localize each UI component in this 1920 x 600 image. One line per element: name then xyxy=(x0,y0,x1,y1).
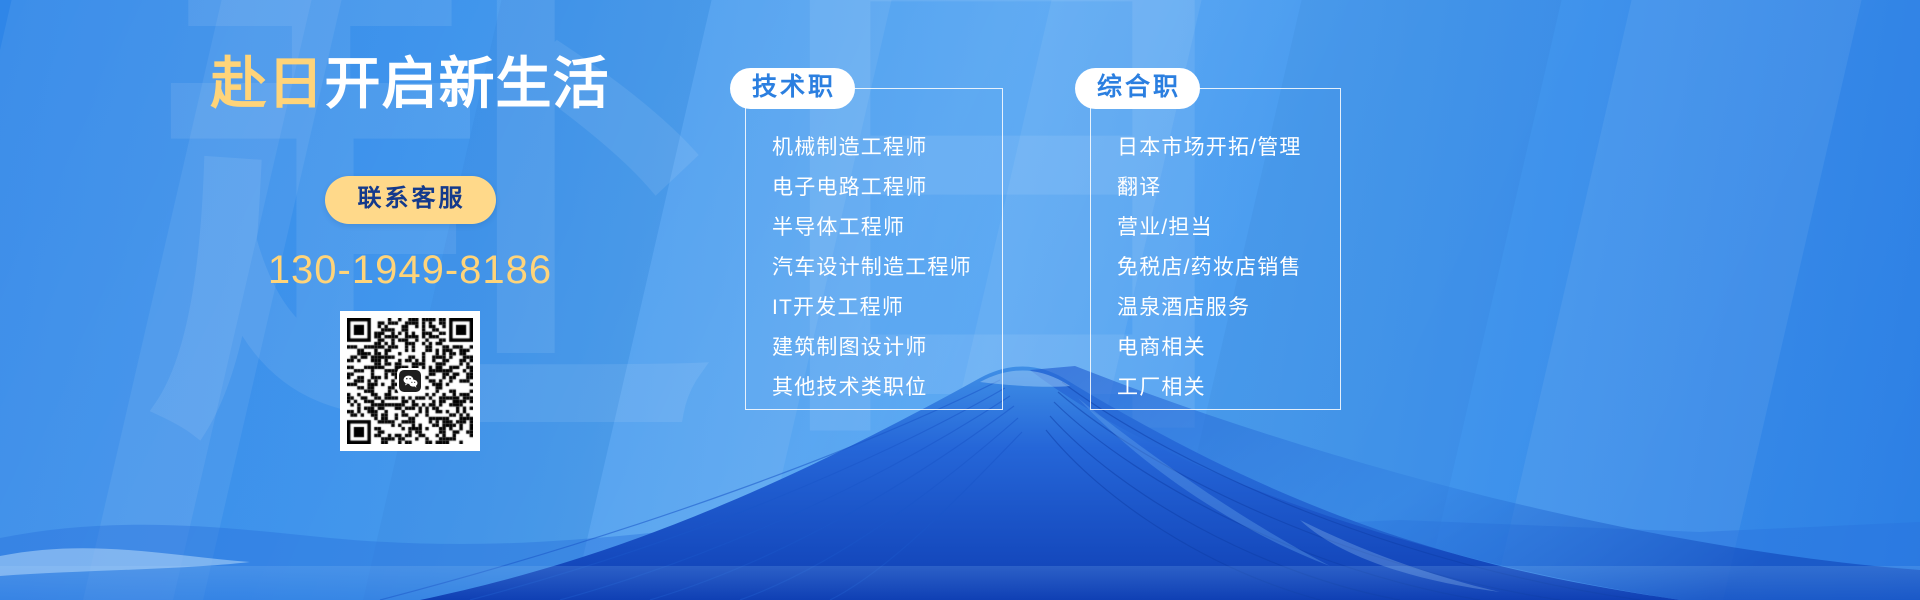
panel-general-list: 日本市场开拓/管理 翻译 营业/担当 免税店/药妆店销售 温泉酒店服务 电商相关… xyxy=(1091,89,1340,433)
panel-general-jobs: 综合职 日本市场开拓/管理 翻译 营业/担当 免税店/药妆店销售 温泉酒店服务 … xyxy=(1090,88,1341,410)
left-contact-column: 赴日开启新生活 联系客服 130-1949-8186 xyxy=(150,34,670,574)
wechat-qr-code[interactable] xyxy=(340,311,480,451)
panel-tech-jobs: 技术职 机械制造工程师 电子电路工程师 半导体工程师 汽车设计制造工程师 IT开… xyxy=(745,88,1003,410)
recruitment-banner: 赴日 xyxy=(0,0,1920,600)
page-title-highlight: 赴日 xyxy=(211,52,325,115)
wechat-icon xyxy=(397,368,423,394)
list-item[interactable]: 汽车设计制造工程师 xyxy=(772,247,1002,287)
list-item[interactable]: 营业/担当 xyxy=(1117,207,1340,247)
panel-tech-list: 机械制造工程师 电子电路工程师 半导体工程师 汽车设计制造工程师 IT开发工程师… xyxy=(746,89,1002,433)
list-item[interactable]: 电商相关 xyxy=(1117,327,1340,367)
page-title: 赴日开启新生活 xyxy=(211,56,610,112)
list-item[interactable]: 电子电路工程师 xyxy=(772,167,1002,207)
panel-general-badge: 综合职 xyxy=(1075,68,1200,109)
contact-service-button[interactable]: 联系客服 xyxy=(325,176,496,224)
phone-number[interactable]: 130-1949-8186 xyxy=(268,248,552,293)
page-title-rest: 开启新生活 xyxy=(325,52,610,115)
list-item[interactable]: 其他技术类职位 xyxy=(772,367,1002,407)
list-item[interactable]: 日本市场开拓/管理 xyxy=(1117,127,1340,167)
list-item[interactable]: IT开发工程师 xyxy=(772,287,1002,327)
list-item[interactable]: 工厂相关 xyxy=(1117,367,1340,407)
list-item[interactable]: 翻译 xyxy=(1117,167,1340,207)
list-item[interactable]: 温泉酒店服务 xyxy=(1117,287,1340,327)
list-item[interactable]: 免税店/药妆店销售 xyxy=(1117,247,1340,287)
panel-tech-badge: 技术职 xyxy=(730,68,855,109)
list-item[interactable]: 半导体工程师 xyxy=(772,207,1002,247)
list-item[interactable]: 机械制造工程师 xyxy=(772,127,1002,167)
list-item[interactable]: 建筑制图设计师 xyxy=(772,327,1002,367)
